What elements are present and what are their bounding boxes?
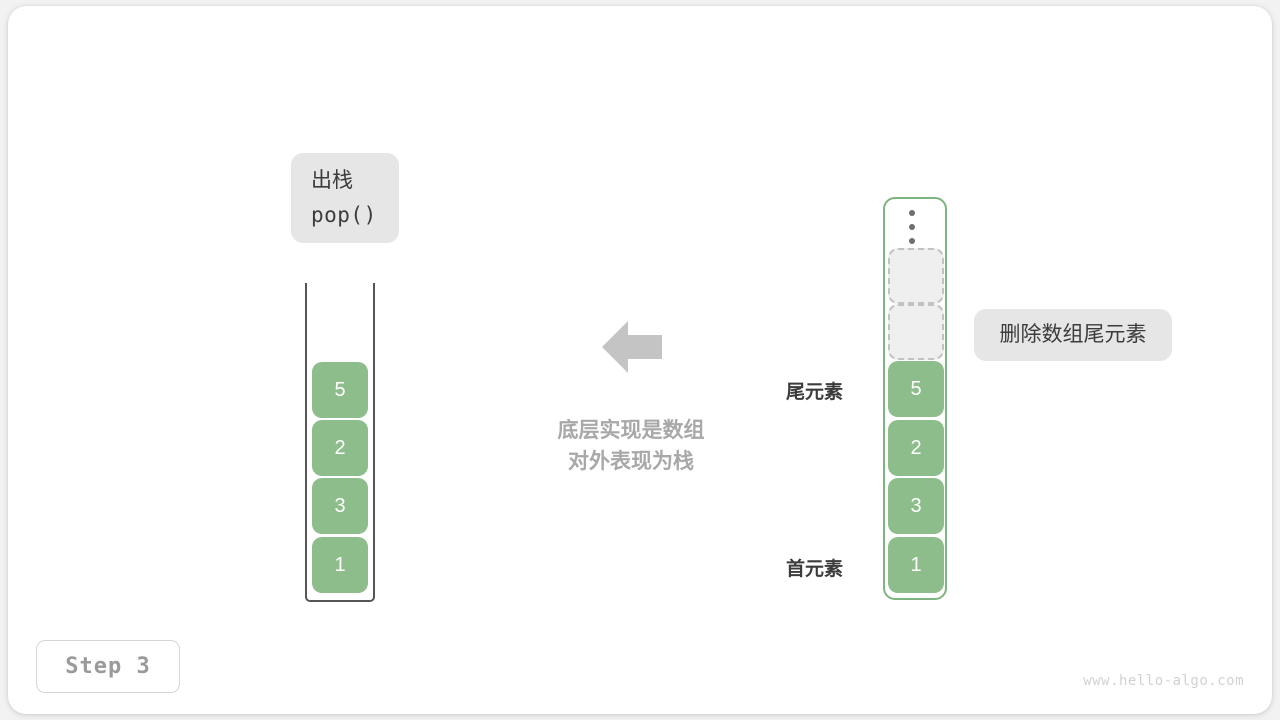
center-caption: 底层实现是数组 对外表现为栈 — [500, 415, 762, 477]
ellipsis-dot — [909, 238, 915, 244]
left-arrow-icon — [602, 319, 662, 375]
head-element-label: 首元素 — [786, 554, 843, 581]
caption-line2: 对外表现为栈 — [500, 446, 762, 477]
stack-cell: 5 — [312, 362, 368, 418]
step-badge: Step 3 — [36, 640, 180, 693]
caption-line1: 底层实现是数组 — [500, 415, 762, 446]
delete-tail-label: 删除数组尾元素 — [1000, 318, 1147, 352]
tail-element-label: 尾元素 — [786, 377, 843, 404]
array-cell: 5 — [888, 361, 944, 417]
delete-tail-bubble: 删除数组尾元素 — [974, 309, 1172, 361]
array-cell: 2 — [888, 420, 944, 476]
watermark: www.hello-algo.com — [1083, 673, 1244, 689]
pop-label-line1: 出栈 — [311, 164, 353, 198]
diagram-canvas: 出栈 pop() 5 2 3 1 底层实现是数组 对外表现为栈 5 2 3 1 … — [0, 0, 1280, 720]
array-empty-slot — [888, 304, 944, 360]
pop-label-bubble: 出栈 pop() — [291, 153, 399, 243]
vertical-ellipsis-icon — [908, 210, 916, 244]
ellipsis-dot — [909, 210, 915, 216]
array-cell: 1 — [888, 537, 944, 593]
ellipsis-dot — [909, 224, 915, 230]
stack-cell: 3 — [312, 478, 368, 534]
stack-cell: 1 — [312, 537, 368, 593]
array-empty-slot — [888, 248, 944, 304]
array-cell: 3 — [888, 478, 944, 534]
pop-label-line2: pop() — [311, 198, 377, 232]
stack-cell: 2 — [312, 420, 368, 476]
